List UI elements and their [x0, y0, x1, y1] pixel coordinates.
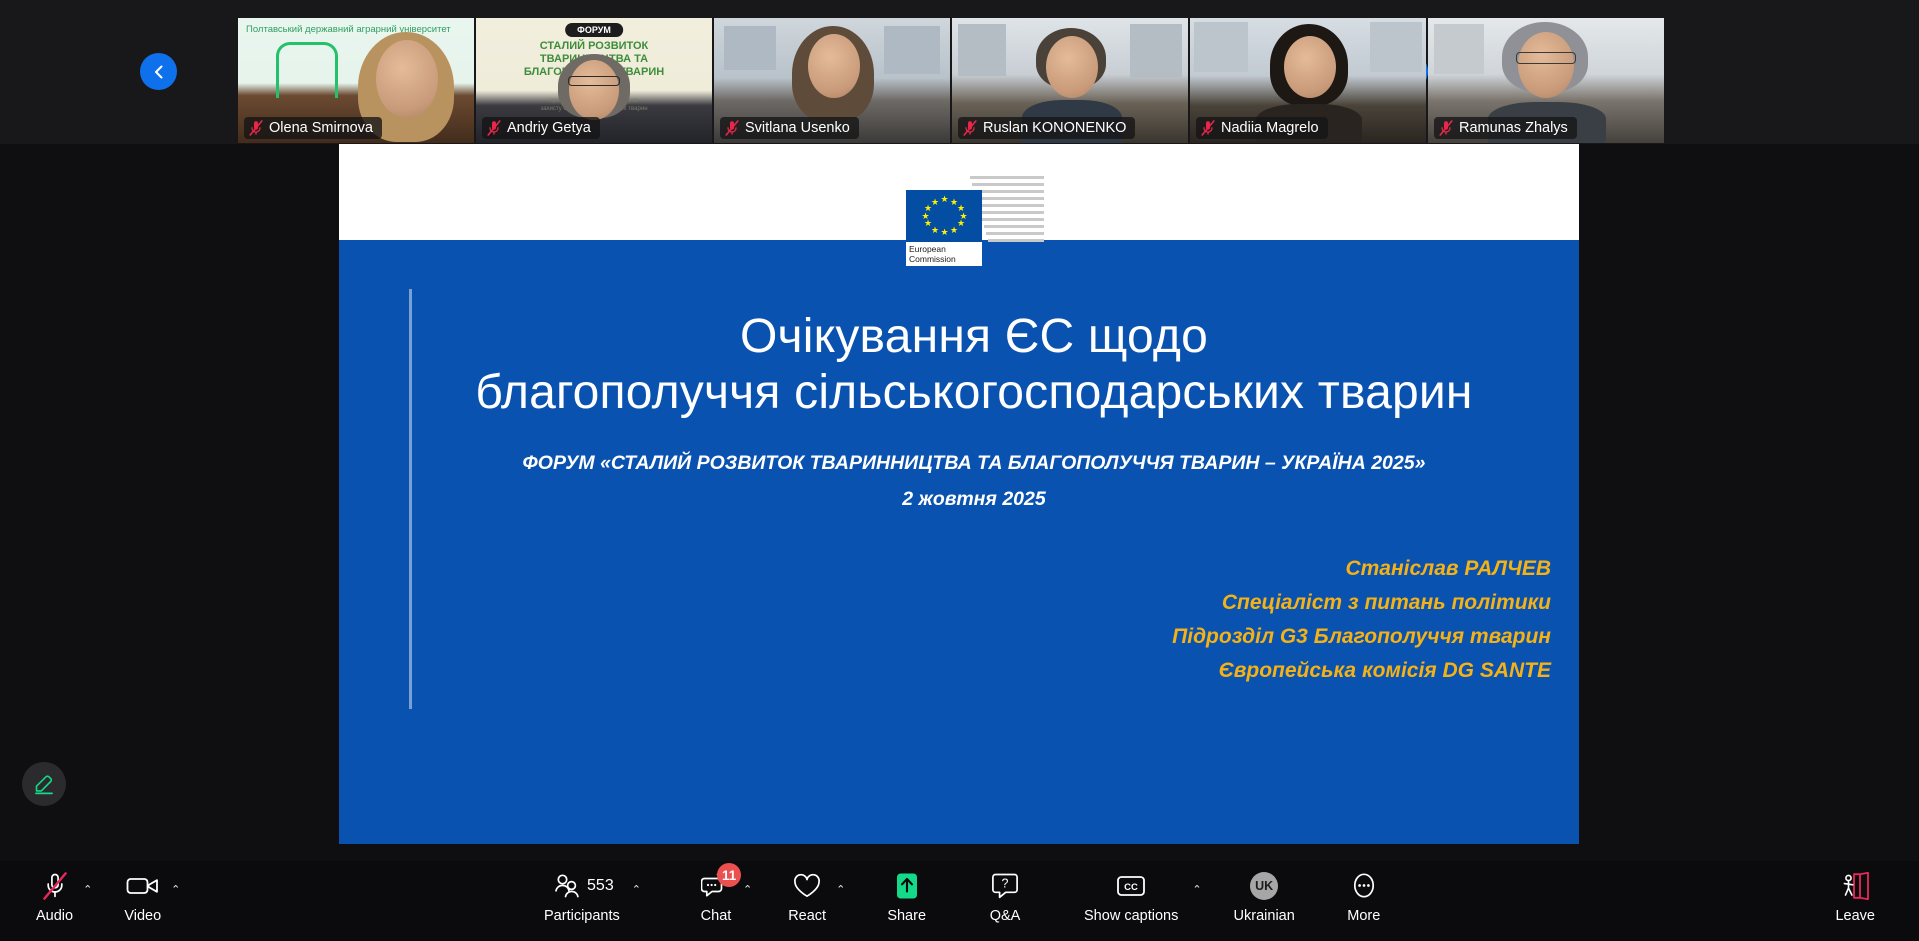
video-label: Video [124, 908, 161, 924]
participants-count: 553 [587, 877, 614, 895]
author-unit: Підрозділ G3 Благополуччя тварин [1172, 620, 1551, 654]
participant-name-bar: Nadiia Magrelo [1196, 117, 1328, 139]
participant-name: Nadiia Magrelo [1221, 120, 1319, 136]
logo-caption-line2: Commission [909, 254, 979, 264]
share-button[interactable]: Share [873, 861, 940, 924]
pencil-icon [32, 772, 56, 796]
language-label: Ukrainian [1234, 908, 1295, 924]
author-name: Станіслав РАЛЧЕВ [1172, 552, 1551, 586]
more-label: More [1347, 908, 1380, 924]
participants-label: Participants [544, 908, 620, 924]
participant-thumbnail[interactable]: Ramunas Zhalys [1428, 18, 1664, 143]
captions-button[interactable]: CC Show captions [1070, 861, 1192, 924]
slide-title-line2: благополуччя сільськогосподарських твари… [399, 365, 1549, 421]
participant-name-bar: Svitlana Usenko [720, 117, 859, 139]
participant-thumbnail[interactable]: Nadiia Magrelo [1190, 18, 1426, 143]
participant-name-bar: Olena Smirnova [244, 117, 382, 139]
captions-label: Show captions [1084, 908, 1178, 924]
language-circle-icon: UK [1250, 870, 1278, 902]
qa-label: Q&A [990, 908, 1021, 924]
participant-name-bar: Andriy Getya [482, 117, 600, 139]
audio-group: Audio ⌃ [22, 861, 92, 924]
share-label: Share [887, 908, 926, 924]
participant-thumbnail[interactable]: Ruslan KONONENKO [952, 18, 1188, 143]
european-commission-logo: ★ ★ ★ ★ ★ ★ ★ ★ ★ ★ ★ ★ European Commiss… [874, 160, 1044, 264]
svg-text:?: ? [1002, 877, 1009, 891]
participant-thumbnail[interactable]: Полтавський державний аграрний університ… [238, 18, 474, 143]
toolbar-right-group: Leave [1821, 861, 1889, 941]
mic-off-icon [725, 120, 739, 136]
participant-thumbnail[interactable]: Svitlana Usenko [714, 18, 950, 143]
audio-label: Audio [36, 908, 73, 924]
participant-name-bar: Ruslan KONONENKO [958, 117, 1135, 139]
slide-subtitle: ФОРУМ «СТАЛИЙ РОЗВИТОК ТВАРИННИЦТВА ТА Б… [399, 454, 1549, 474]
chat-unread-badge: 11 [717, 863, 741, 887]
slide-author-block: Станіслав РАЛЧЕВ Спеціаліст з питань пол… [1172, 552, 1551, 688]
logo-caption: European Commission [906, 242, 982, 266]
participant-name: Svitlana Usenko [745, 120, 850, 136]
more-button[interactable]: More [1333, 861, 1395, 924]
language-button[interactable]: UK Ukrainian [1220, 861, 1309, 924]
mic-off-icon [487, 120, 501, 136]
participant-name: Olena Smirnova [269, 120, 373, 136]
mic-off-icon [249, 120, 263, 136]
camera-icon [126, 870, 160, 902]
participant-name: Ramunas Zhalys [1459, 120, 1568, 136]
mic-off-icon [963, 120, 977, 136]
presentation-slide[interactable]: ★ ★ ★ ★ ★ ★ ★ ★ ★ ★ ★ ★ European Commiss… [339, 144, 1579, 844]
thumbnail-row: Полтавський державний аграрний університ… [238, 18, 1668, 143]
svg-text:CC: CC [1124, 882, 1138, 893]
participants-button[interactable]: 553 Participants [530, 861, 634, 924]
captions-group: CC Show captions ⌃ [1070, 861, 1202, 924]
video-group: Video ⌃ [110, 861, 180, 924]
mic-off-icon [1201, 120, 1215, 136]
shared-screen-stage: ★ ★ ★ ★ ★ ★ ★ ★ ★ ★ ★ ★ European Commiss… [0, 144, 1919, 700]
chevron-left-icon [151, 64, 167, 80]
react-group: React ⌃ [774, 861, 845, 924]
language-code: UK [1250, 872, 1278, 900]
participants-group: 553 Participants ⌃ [530, 861, 641, 924]
author-role: Спеціаліст з питань політики [1172, 586, 1551, 620]
leave-label: Leave [1835, 908, 1875, 924]
eu-flag-icon: ★ ★ ★ ★ ★ ★ ★ ★ ★ ★ ★ ★ [906, 190, 982, 242]
react-label: React [788, 908, 826, 924]
slide-title: Очікування ЄС щодо благополуччя сільсько… [399, 309, 1549, 420]
mic-off-icon [1439, 120, 1453, 136]
react-button[interactable]: React [774, 861, 840, 924]
participant-name: Andriy Getya [507, 120, 591, 136]
video-button[interactable]: Video [110, 861, 175, 924]
question-answer-icon: ? [992, 870, 1018, 902]
chat-label: Chat [701, 908, 732, 924]
slide-title-line1: Очікування ЄС щодо [399, 309, 1549, 365]
author-organisation: Європейська комісія DG SANTE [1172, 654, 1551, 688]
filmstrip-prev-button[interactable] [140, 53, 177, 90]
more-ellipsis-icon [1349, 870, 1379, 902]
heart-icon [793, 870, 821, 902]
leave-door-icon [1840, 870, 1870, 902]
mic-off-icon [42, 870, 68, 902]
logo-caption-line1: European [909, 244, 979, 254]
closed-captions-icon: CC [1116, 870, 1146, 902]
qa-button[interactable]: ? Q&A [974, 861, 1036, 924]
annotate-button[interactable] [22, 762, 66, 806]
participant-name-bar: Ramunas Zhalys [1434, 117, 1577, 139]
leave-button[interactable]: Leave [1821, 861, 1889, 924]
chat-button[interactable]: 11 Chat [685, 861, 747, 924]
participant-name: Ruslan KONONENKO [983, 120, 1126, 136]
chat-group: 11 Chat ⌃ [685, 861, 752, 924]
slide-date: 2 жовтня 2025 [399, 488, 1549, 511]
share-screen-icon [894, 870, 920, 902]
participant-filmstrip: Полтавський державний аграрний університ… [0, 0, 1919, 144]
participants-icon: 553 [550, 870, 614, 902]
audio-button[interactable]: Audio [22, 861, 87, 924]
meeting-toolbar: Audio ⌃ Video ⌃ [0, 861, 1919, 941]
toolbar-center-group: 553 Participants ⌃ 11 Chat ⌃ [530, 861, 1395, 941]
toolbar-left-group: Audio ⌃ Video ⌃ [22, 861, 180, 941]
captions-options-caret[interactable]: ⌃ [1192, 883, 1201, 896]
participant-thumbnail[interactable]: ФОРУМ СТАЛИЙ РОЗВИТОКТВАРИННИЦТВА ТАБЛАГ… [476, 18, 712, 143]
chat-icon: 11 [701, 870, 731, 902]
